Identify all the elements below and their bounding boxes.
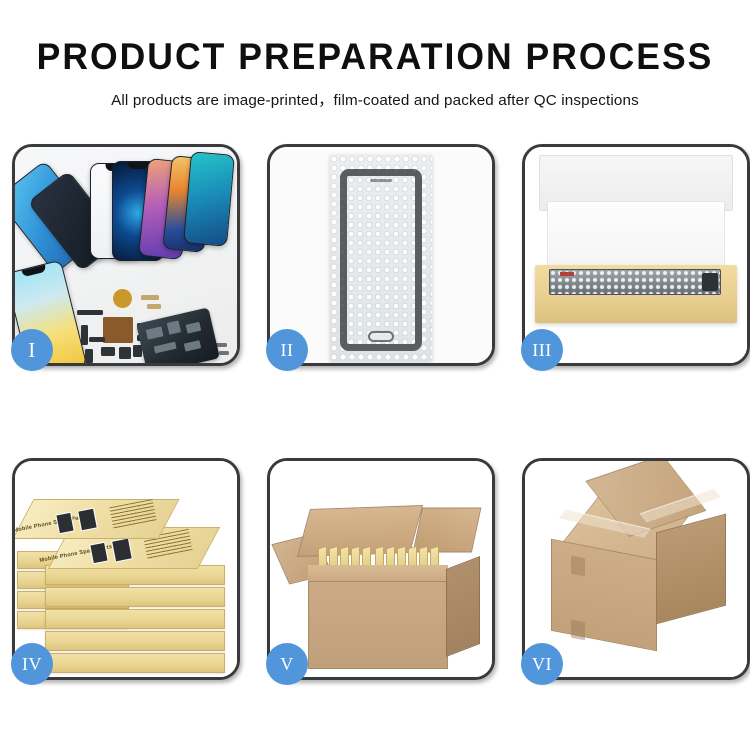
stacked-box [45,631,225,651]
spare-part-module [85,349,93,363]
spare-part-chip-grid [103,317,133,343]
spare-part-module [101,347,115,356]
spare-part-flex-cable [147,304,161,309]
process-step-panel-4: Mobile Phone Spare Parts Mobile Phone Sp… [12,458,240,680]
label-sticker [560,272,574,276]
wrapped-screen-in-box [549,269,721,295]
spare-part-strip [77,310,103,315]
panel-3-image [525,147,747,363]
carton-flap-seam [571,556,585,577]
carton-side-face [656,514,726,625]
step-badge-6: VI [521,643,563,685]
page-subtitle: All products are image-printed，film-coat… [0,88,750,110]
panel-4-image: Mobile Phone Spare Parts Mobile Phone Sp… [15,461,237,677]
step-badge-4: IV [11,643,53,685]
panel-1-image [15,147,237,363]
page-root: PRODUCT PREPARATION PROCESS All products… [0,0,750,750]
carton-flap-seam [571,620,585,641]
spare-part-connector [81,325,88,345]
page-title: PRODUCT PREPARATION PROCESS [15,36,735,78]
screen-connector-tab [702,273,718,291]
spare-part-module [119,347,131,359]
home-button-icon [368,331,394,342]
panel-2-image [270,147,492,363]
stacked-box [45,587,225,607]
carton-side-face [446,556,480,657]
spare-part-connector [89,337,105,342]
phone-notch-icon [128,162,149,169]
header: PRODUCT PREPARATION PROCESS All products… [0,0,750,110]
wrapped-screen-glass [340,169,422,351]
step-badge-3: III [521,329,563,371]
panel-5-image [270,461,492,677]
stacked-box [45,609,225,629]
box-label-screen-image [111,537,133,562]
spare-part-screw [219,351,229,355]
panel-6-image [525,461,747,677]
process-step-panel-1: I [12,144,240,366]
phone-screen-teal-gradient [183,151,235,246]
process-step-panel-3: III [522,144,750,366]
process-step-grid: I II [12,144,738,680]
earpiece-slot-icon [370,179,392,182]
process-step-panel-2: II [267,144,495,366]
step-badge-2: II [266,329,308,371]
process-step-panel-6: VI [522,458,750,680]
step-badge-1: I [11,329,53,371]
step-badge-5: V [266,643,308,685]
carton-flap-right [413,508,482,553]
spare-part-coil [113,289,132,308]
spare-part-flex-cable [141,295,159,300]
stacked-box [45,653,225,673]
carton-front-face [308,581,448,669]
process-step-panel-5: V [267,458,495,680]
